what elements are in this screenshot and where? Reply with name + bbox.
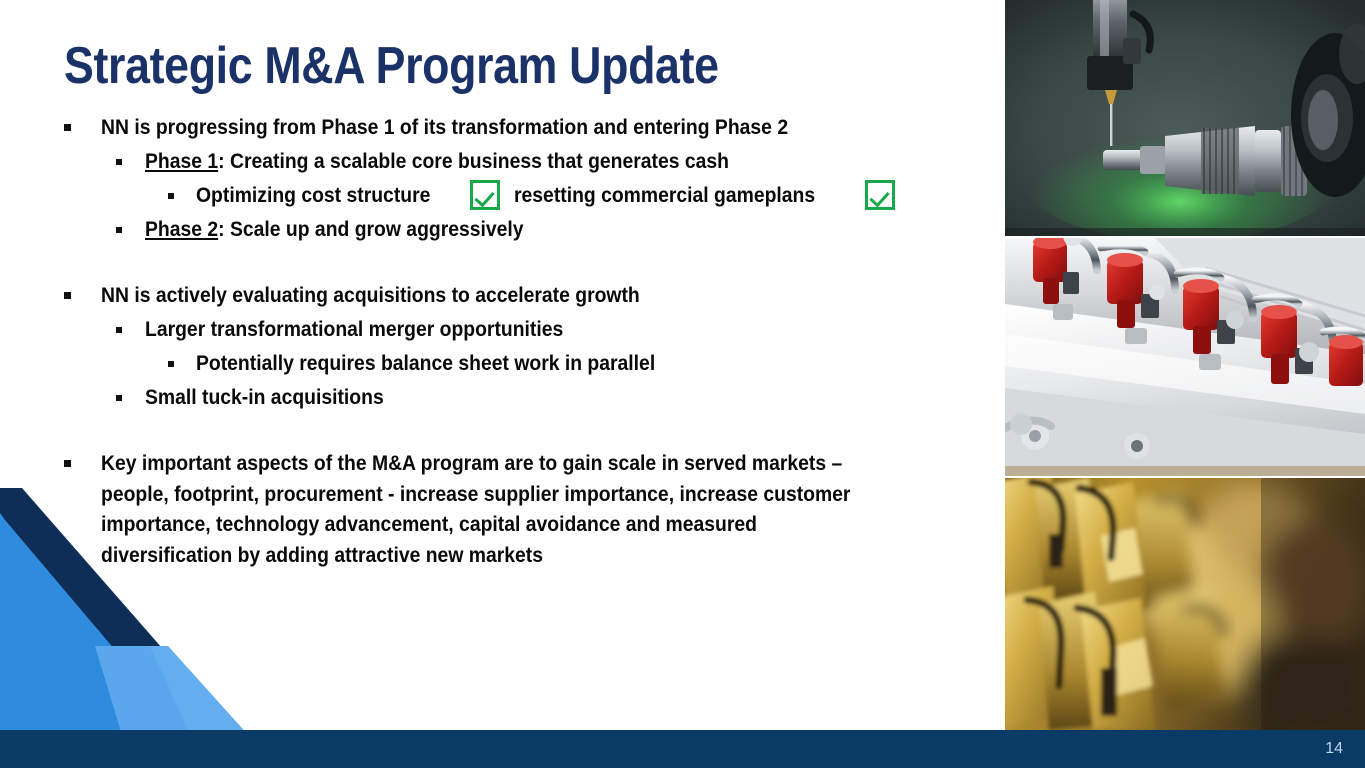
- presentation-slide: 14 Strategic M&A Program Update NN is pr…: [0, 0, 1365, 768]
- bullet-level1-acquisitions: NN is actively evaluating acquisitions t…: [64, 280, 964, 310]
- bullet-level1-key-aspects: Key important aspects of the M&A program…: [64, 448, 964, 570]
- square-bullet-icon: [116, 159, 122, 165]
- bullet-text: NN is actively evaluating acquisitions t…: [101, 280, 640, 310]
- square-bullet-icon: [64, 124, 71, 131]
- square-bullet-icon: [116, 227, 122, 233]
- square-bullet-icon: [168, 193, 174, 199]
- bullet-level2-phase1: Phase 1: Creating a scalable core busine…: [116, 146, 964, 176]
- checkbox-line: Optimizing cost structure resetting comm…: [196, 180, 895, 210]
- bullet-level2-phase2: Phase 2: Scale up and grow aggressively: [116, 214, 964, 244]
- bullet-text: Phase 2: Scale up and grow aggressively: [145, 214, 524, 244]
- photo-strip: [1005, 0, 1365, 730]
- bullet-text: Larger transformational merger opportuni…: [145, 314, 563, 344]
- precision-machining-photo: [1005, 0, 1365, 236]
- bullet-paragraph-text: Key important aspects of the M&A program…: [101, 448, 878, 570]
- square-bullet-icon: [64, 292, 71, 299]
- brass-components-photo: [1005, 478, 1365, 730]
- optimizing-text: Optimizing cost structure: [196, 180, 430, 210]
- square-bullet-icon: [116, 395, 122, 401]
- bullet-level1-transformation: NN is progressing from Phase 1 of its tr…: [64, 112, 964, 142]
- bullet-level2-tuck-in: Small tuck-in acquisitions: [116, 382, 964, 412]
- phase2-description: : Scale up and grow aggressively: [218, 217, 523, 241]
- bullet-level3-balance-sheet: Potentially requires balance sheet work …: [168, 348, 964, 378]
- bullet-level3-optimizing: Optimizing cost structure resetting comm…: [168, 180, 964, 210]
- footer-bar: 14: [0, 730, 1365, 768]
- phase1-label: Phase 1: [145, 149, 218, 173]
- resetting-text: resetting commercial gameplans: [514, 180, 815, 210]
- square-bullet-icon: [116, 327, 122, 333]
- phase2-label: Phase 2: [145, 217, 218, 241]
- checkbox-checked-icon[interactable]: [865, 180, 895, 210]
- bullet-text: NN is progressing from Phase 1 of its tr…: [101, 112, 788, 142]
- section-spacer: [64, 416, 964, 448]
- bullet-text: Potentially requires balance sheet work …: [196, 348, 655, 378]
- phase1-description: : Creating a scalable core business that…: [218, 149, 729, 173]
- slide-title: Strategic M&A Program Update: [64, 36, 719, 96]
- bullet-level2-merger: Larger transformational merger opportuni…: [116, 314, 964, 344]
- bullet-text: Small tuck-in acquisitions: [145, 382, 384, 412]
- bullet-text: Phase 1: Creating a scalable core busine…: [145, 146, 729, 176]
- page-number: 14: [1325, 740, 1343, 758]
- checkbox-checked-icon[interactable]: [470, 180, 500, 210]
- square-bullet-icon: [168, 361, 174, 367]
- section-spacer: [64, 248, 964, 280]
- engine-manifold-photo: [1005, 238, 1365, 476]
- square-bullet-icon: [64, 460, 71, 467]
- slide-body: NN is progressing from Phase 1 of its tr…: [64, 112, 964, 574]
